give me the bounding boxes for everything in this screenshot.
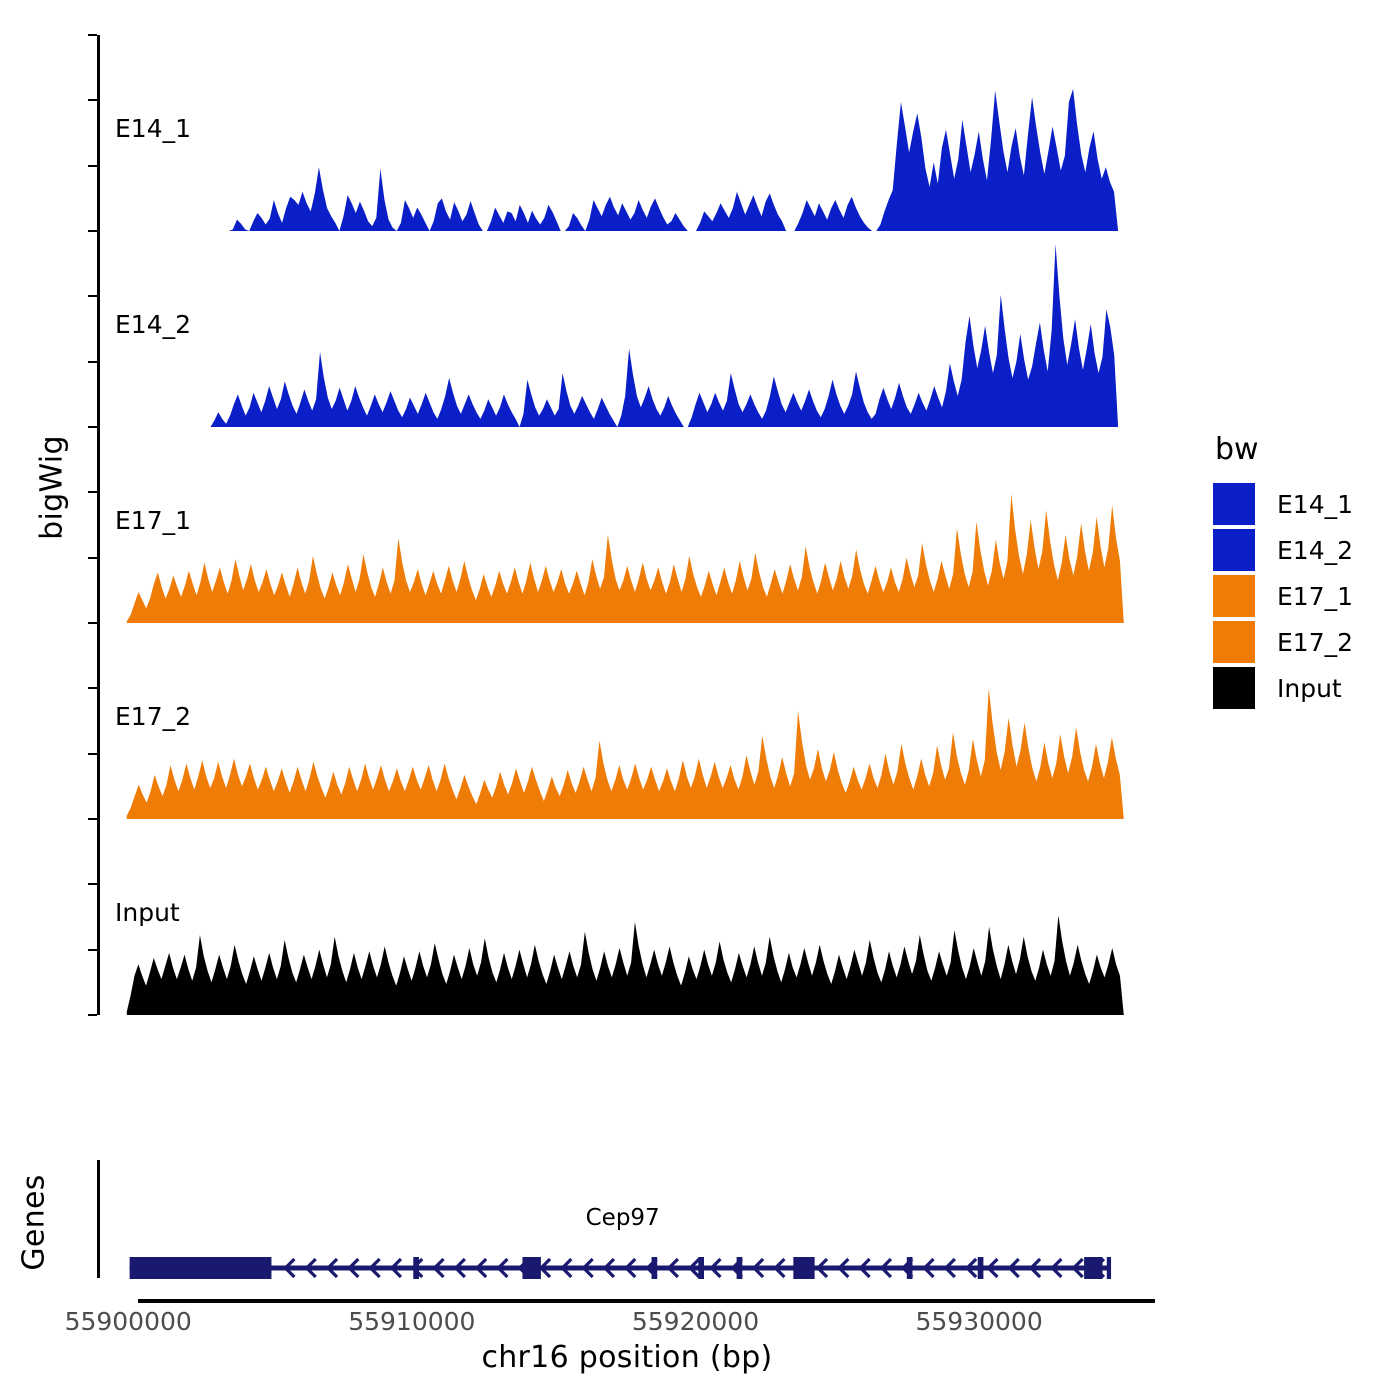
y-tick <box>88 491 97 493</box>
signal-area-e14_1 <box>97 35 1155 231</box>
gene-model-svg <box>97 1248 1155 1288</box>
y-tick <box>88 99 97 101</box>
gene-model <box>97 1248 1155 1292</box>
legend-title: bw <box>1215 432 1353 467</box>
legend-label-e17_1: E17_1 <box>1277 582 1353 611</box>
x-tick-label: 55930000 <box>916 1307 1043 1336</box>
gene-label: Cep97 <box>586 1205 660 1231</box>
y-tick <box>88 295 97 297</box>
x-tick-label: 55900000 <box>65 1307 192 1336</box>
legend-swatch-input <box>1213 667 1255 709</box>
gene-track-panel: Cep97 <box>97 1160 1155 1290</box>
y-tick <box>88 687 97 689</box>
track-panel-e14_1: 0246E14_1 <box>97 35 1155 231</box>
genes-axis-title: Genes <box>17 1153 52 1293</box>
y-tick <box>88 165 97 167</box>
track-panel-e14_2: 0246E14_2 <box>97 231 1155 427</box>
legend-item-e14_1[interactable]: E14_1 <box>1213 483 1353 525</box>
y-tick <box>88 818 97 820</box>
y-tick <box>88 622 97 624</box>
x-tick-label: 55920000 <box>632 1307 759 1336</box>
track-panel-input: 0246Input <box>97 819 1155 1015</box>
legend: bw E14_1E14_2E17_1E17_2Input <box>1213 432 1353 713</box>
legend-items: E14_1E14_2E17_1E17_2Input <box>1213 483 1353 709</box>
signal-area-e14_2 <box>97 231 1155 427</box>
legend-label-e14_2: E14_2 <box>1277 536 1353 565</box>
legend-label-e17_2: E17_2 <box>1277 628 1353 657</box>
signal-area-input <box>97 819 1155 1015</box>
y-axis-title: bigWig <box>35 388 70 588</box>
legend-label-e14_1: E14_1 <box>1277 490 1353 519</box>
legend-item-e17_2[interactable]: E17_2 <box>1213 621 1353 663</box>
y-tick <box>88 949 97 951</box>
track-panel-e17_1: 0246E17_1 <box>97 427 1155 623</box>
legend-swatch-e14_1 <box>1213 483 1255 525</box>
legend-item-input[interactable]: Input <box>1213 667 1353 709</box>
signal-area-e17_1 <box>97 427 1155 623</box>
legend-label-input: Input <box>1277 674 1342 703</box>
x-axis-line <box>138 1299 1155 1303</box>
y-tick <box>88 883 97 885</box>
y-tick <box>88 753 97 755</box>
legend-swatch-e17_1 <box>1213 575 1255 617</box>
y-tick <box>88 1014 97 1016</box>
legend-item-e14_2[interactable]: E14_2 <box>1213 529 1353 571</box>
y-tick <box>88 557 97 559</box>
x-tick-label: 55910000 <box>348 1307 475 1336</box>
legend-swatch-e14_2 <box>1213 529 1255 571</box>
y-tick <box>88 34 97 36</box>
track-panel-e17_2: 0246E17_2 <box>97 623 1155 819</box>
signal-area-e17_2 <box>97 623 1155 819</box>
legend-swatch-e17_2 <box>1213 621 1255 663</box>
y-tick <box>88 230 97 232</box>
x-axis-title: chr16 position (bp) <box>97 1340 1157 1375</box>
y-tick <box>88 361 97 363</box>
legend-item-e17_1[interactable]: E17_1 <box>1213 575 1353 617</box>
y-tick <box>88 426 97 428</box>
